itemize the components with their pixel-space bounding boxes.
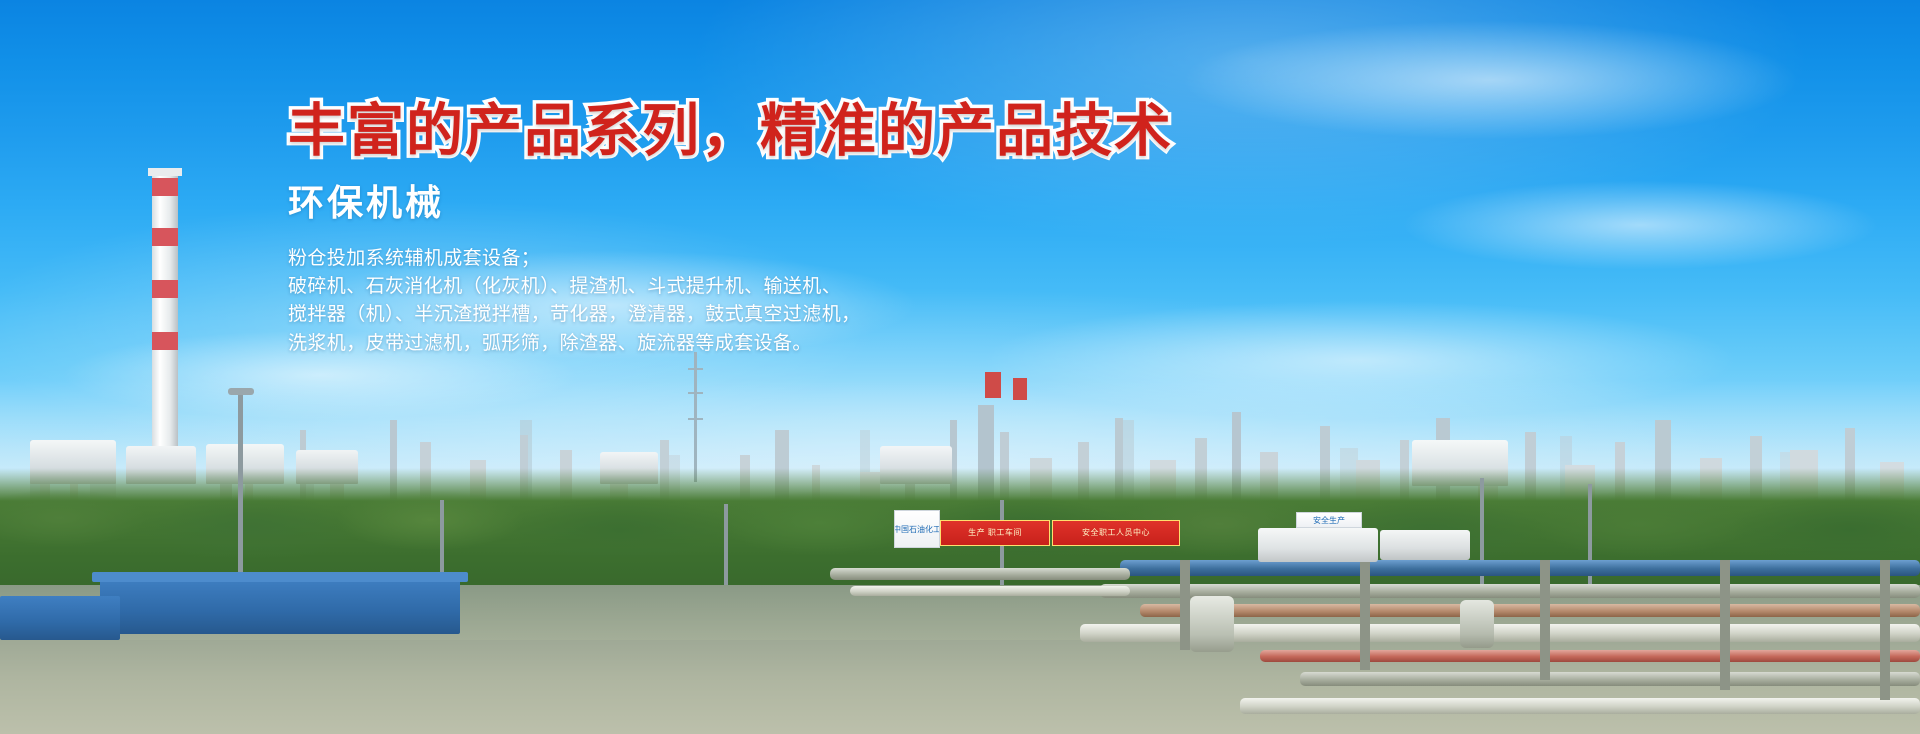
factory-sign-white: 中国石油化工 bbox=[894, 510, 940, 548]
pipeline-blue bbox=[1120, 560, 1920, 576]
hero-headline: 丰富的产品系列，精准的产品技术 bbox=[288, 100, 1288, 164]
hero-subheadline: 环保机械 bbox=[288, 182, 1288, 223]
street-lamp bbox=[238, 392, 243, 592]
rail-car bbox=[1258, 528, 1378, 562]
striped-column bbox=[1013, 378, 1027, 400]
pipe-support bbox=[1180, 560, 1190, 650]
blue-roof-ridge bbox=[92, 572, 468, 582]
process-vessel bbox=[1190, 596, 1234, 652]
pipe-support bbox=[1880, 560, 1890, 700]
hero-body-line: 破碎机、石灰消化机（化灰机）、提渣机、斗式提升机、输送机、 bbox=[288, 273, 1288, 301]
factory-sign-text: 生产 职工车间 bbox=[968, 529, 1022, 538]
factory-sign-red: 生产 职工车间 bbox=[940, 520, 1050, 546]
pipeline-rust bbox=[1140, 604, 1920, 617]
pipeline-red bbox=[1260, 650, 1920, 662]
striped-column bbox=[985, 372, 1001, 398]
factory-sign-text: 安全生产 bbox=[1313, 515, 1345, 526]
hero-body-line: 粉仓投加系统辅机成套设备； bbox=[288, 245, 1288, 273]
pipeline-white bbox=[1240, 698, 1920, 714]
hero-banner: 生产 职工车间 安全职工人员中心 中国石油化工 安全生产 丰富的产品系列，精准的… bbox=[0, 0, 1920, 734]
pipeline-grey bbox=[830, 568, 1130, 580]
factory-sign-white: 安全生产 bbox=[1296, 512, 1362, 528]
factory-sign-text: 安全职工人员中心 bbox=[1082, 529, 1150, 538]
process-vessel bbox=[1460, 600, 1494, 648]
hero-body-line: 洗浆机，皮带过滤机，弧形筛，除渣器、旋流器等成套设备。 bbox=[288, 330, 1288, 358]
smokestack-band bbox=[152, 280, 178, 298]
hero-body-line: 搅拌器（机）、半沉渣搅拌槽，苛化器，澄清器，鼓式真空过滤机， bbox=[288, 301, 1288, 329]
factory-sign-red: 安全职工人员中心 bbox=[1052, 520, 1180, 546]
pipeline-white bbox=[850, 586, 1130, 596]
pipe-support bbox=[1720, 560, 1730, 690]
blue-roof-building bbox=[100, 578, 460, 634]
rail-car bbox=[1380, 530, 1470, 560]
smokestack-band bbox=[152, 178, 178, 196]
pipe-support bbox=[1540, 560, 1550, 680]
street-lamp-head bbox=[228, 388, 254, 395]
smokestack-band bbox=[152, 228, 178, 246]
hero-body-text: 粉仓投加系统辅机成套设备； 破碎机、石灰消化机（化灰机）、提渣机、斗式提升机、输… bbox=[288, 245, 1288, 357]
pipe-support bbox=[1360, 560, 1370, 670]
pipeline-grey bbox=[1300, 672, 1920, 686]
hero-copy: 丰富的产品系列，精准的产品技术 环保机械 粉仓投加系统辅机成套设备； 破碎机、石… bbox=[288, 100, 1288, 358]
blue-roof-building bbox=[0, 596, 120, 640]
smokestack-top bbox=[148, 168, 182, 176]
factory-sign-text: 中国石油化工 bbox=[894, 524, 940, 535]
